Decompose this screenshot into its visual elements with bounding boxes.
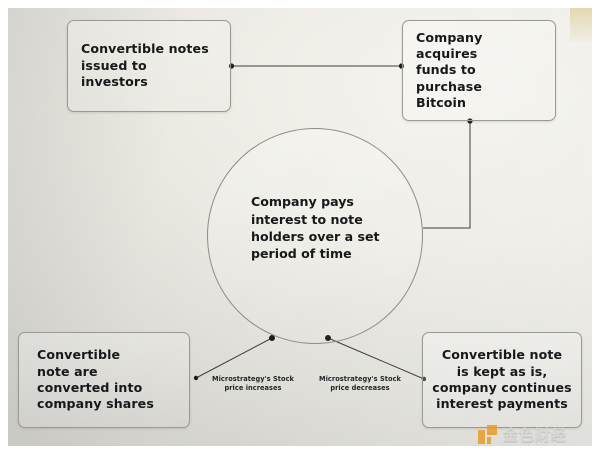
node-converted-into-shares[interactable]: Convertible note are converted into comp… bbox=[18, 332, 190, 428]
node-converted-into-shares-label: Convertible note are converted into comp… bbox=[37, 347, 171, 412]
watermark: 金色财经 bbox=[478, 424, 567, 445]
node-company-acquires-funds-label: Company acquires funds to purchase Bitco… bbox=[416, 30, 542, 112]
node-note-kept-as-is[interactable]: Convertible note is kept as is, company … bbox=[422, 332, 582, 428]
node-company-pays-interest[interactable]: Company pays interest to note holders ov… bbox=[207, 128, 423, 344]
edge-label-stock-price-increases: Microstrategy's Stock price increases bbox=[205, 375, 301, 392]
jinse-logo-icon bbox=[478, 425, 497, 444]
node-convertible-notes-issued-label: Convertible notes issued to investors bbox=[81, 41, 217, 90]
node-company-acquires-funds[interactable]: Company acquires funds to purchase Bitco… bbox=[402, 20, 556, 121]
watermark-text: 金色财经 bbox=[503, 424, 567, 445]
diagram-canvas: Convertible notes issued to investors Co… bbox=[0, 0, 600, 454]
node-note-kept-as-is-label: Convertible note is kept as is, company … bbox=[431, 347, 573, 412]
node-convertible-notes-issued[interactable]: Convertible notes issued to investors bbox=[67, 20, 231, 112]
node-company-pays-interest-label: Company pays interest to note holders ov… bbox=[208, 193, 422, 279]
edge-label-stock-price-decreases: Microstrategy's Stock price decreases bbox=[312, 375, 408, 392]
